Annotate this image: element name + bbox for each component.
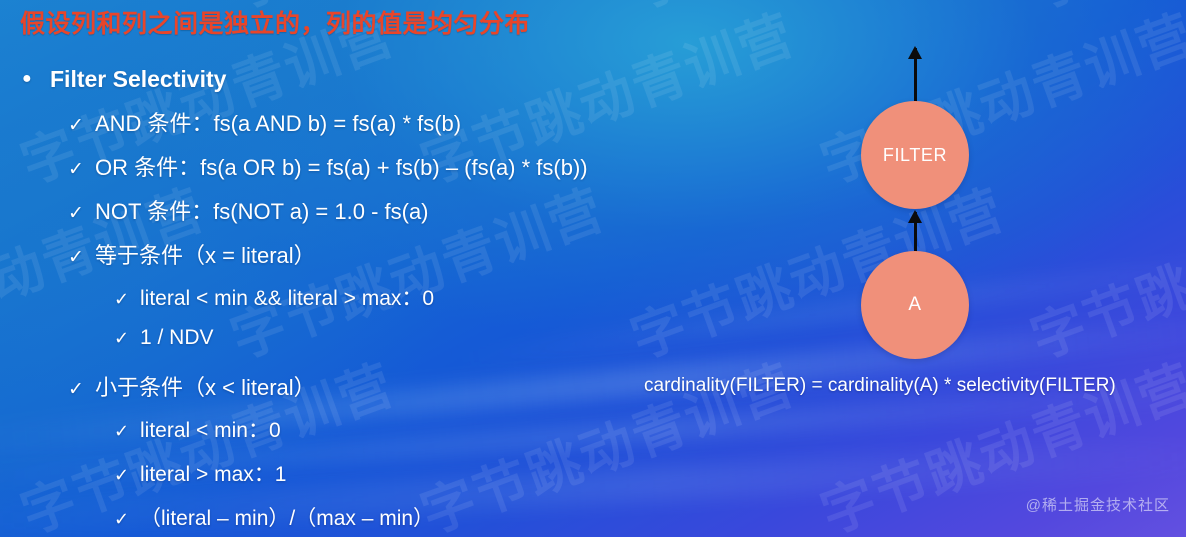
outline-list: ●Filter Selectivity✓AND 条件：fs(a AND b) =…	[0, 66, 700, 537]
check-icon: ✓	[114, 289, 140, 310]
outline-item-label: OR 条件：fs(a OR b) = fs(a) + fs(b) – (fs(a…	[95, 150, 588, 182]
check-icon: ✓	[114, 465, 140, 486]
outline-item-label: （literal – min）/（max – min）	[140, 502, 434, 532]
check-icon: ✓	[114, 509, 140, 530]
outline-item-label: literal < min：0	[140, 414, 281, 444]
page-title: 假设列和列之间是独立的，列的值是均匀分布	[20, 4, 530, 40]
check-icon: ✓	[68, 202, 95, 225]
outline-item: ✓literal < min：0	[0, 414, 700, 458]
outline-item-label: literal < min && literal > max：0	[140, 282, 434, 312]
diagram-node-filter: FILTER	[861, 101, 969, 209]
outline-item: ✓（literal – min）/（max – min）	[0, 502, 700, 537]
outline-item: ✓1 / NDV	[0, 326, 700, 370]
background-watermark-text: 字节跳动青训营	[618, 0, 1013, 24]
outline-item-label: NOT 条件：fs(NOT a) = 1.0 - fs(a)	[95, 194, 429, 226]
outline-item-label: 1 / NDV	[140, 326, 214, 350]
check-icon: ✓	[114, 328, 140, 349]
check-icon: ✓	[68, 158, 95, 181]
outline-item: ✓literal < min && literal > max：0	[0, 282, 700, 326]
background-watermark-text: 字节跳动青训营	[1018, 0, 1186, 24]
corner-watermark: @稀土掘金技术社区	[1026, 494, 1170, 515]
diagram-node-a: A	[861, 251, 969, 359]
outline-item-label: 等于条件（x = literal）	[95, 238, 316, 270]
diagram-caption: cardinality(FILTER) = cardinality(A) * s…	[644, 375, 1186, 397]
edge-arrow-shaft	[914, 212, 917, 254]
outline-item: ✓literal > max：1	[0, 458, 700, 502]
outline-item: ●Filter Selectivity	[0, 66, 700, 106]
outline-item: ✓OR 条件：fs(a OR b) = fs(a) + fs(b) – (fs(…	[0, 150, 700, 194]
cardinality-diagram: FILTER A cardinality(FILTER) = cardinali…	[630, 30, 1186, 405]
outline-item-label: literal > max：1	[140, 458, 286, 488]
check-icon: ✓	[68, 246, 95, 269]
check-icon: ✓	[68, 378, 95, 401]
outline-item: ✓NOT 条件：fs(NOT a) = 1.0 - fs(a)	[0, 194, 700, 238]
outline-item-label: 小于条件（x < literal）	[95, 370, 316, 402]
background-watermark-text: 字节跳动青训营	[1018, 515, 1186, 537]
outline-item-label: Filter Selectivity	[50, 66, 226, 93]
outline-item-label: AND 条件：fs(a AND b) = fs(a) * fs(b)	[95, 106, 461, 138]
outline-item: ✓AND 条件：fs(a AND b) = fs(a) * fs(b)	[0, 106, 700, 150]
outline-item: ✓等于条件（x = literal）	[0, 238, 700, 282]
bullet-icon: ●	[22, 70, 50, 88]
outline-item: ✓小于条件（x < literal）	[0, 370, 700, 414]
diagram-node-filter-label: FILTER	[883, 145, 947, 166]
check-icon: ✓	[68, 114, 95, 137]
check-icon: ✓	[114, 421, 140, 442]
diagram-node-a-label: A	[908, 294, 921, 316]
slide-canvas: 字节跳动青训营字节跳动青训营字节跳动青训营字节跳动青训营字节跳动青训营字节跳动青…	[0, 0, 1186, 537]
output-arrow-shaft	[914, 48, 917, 104]
